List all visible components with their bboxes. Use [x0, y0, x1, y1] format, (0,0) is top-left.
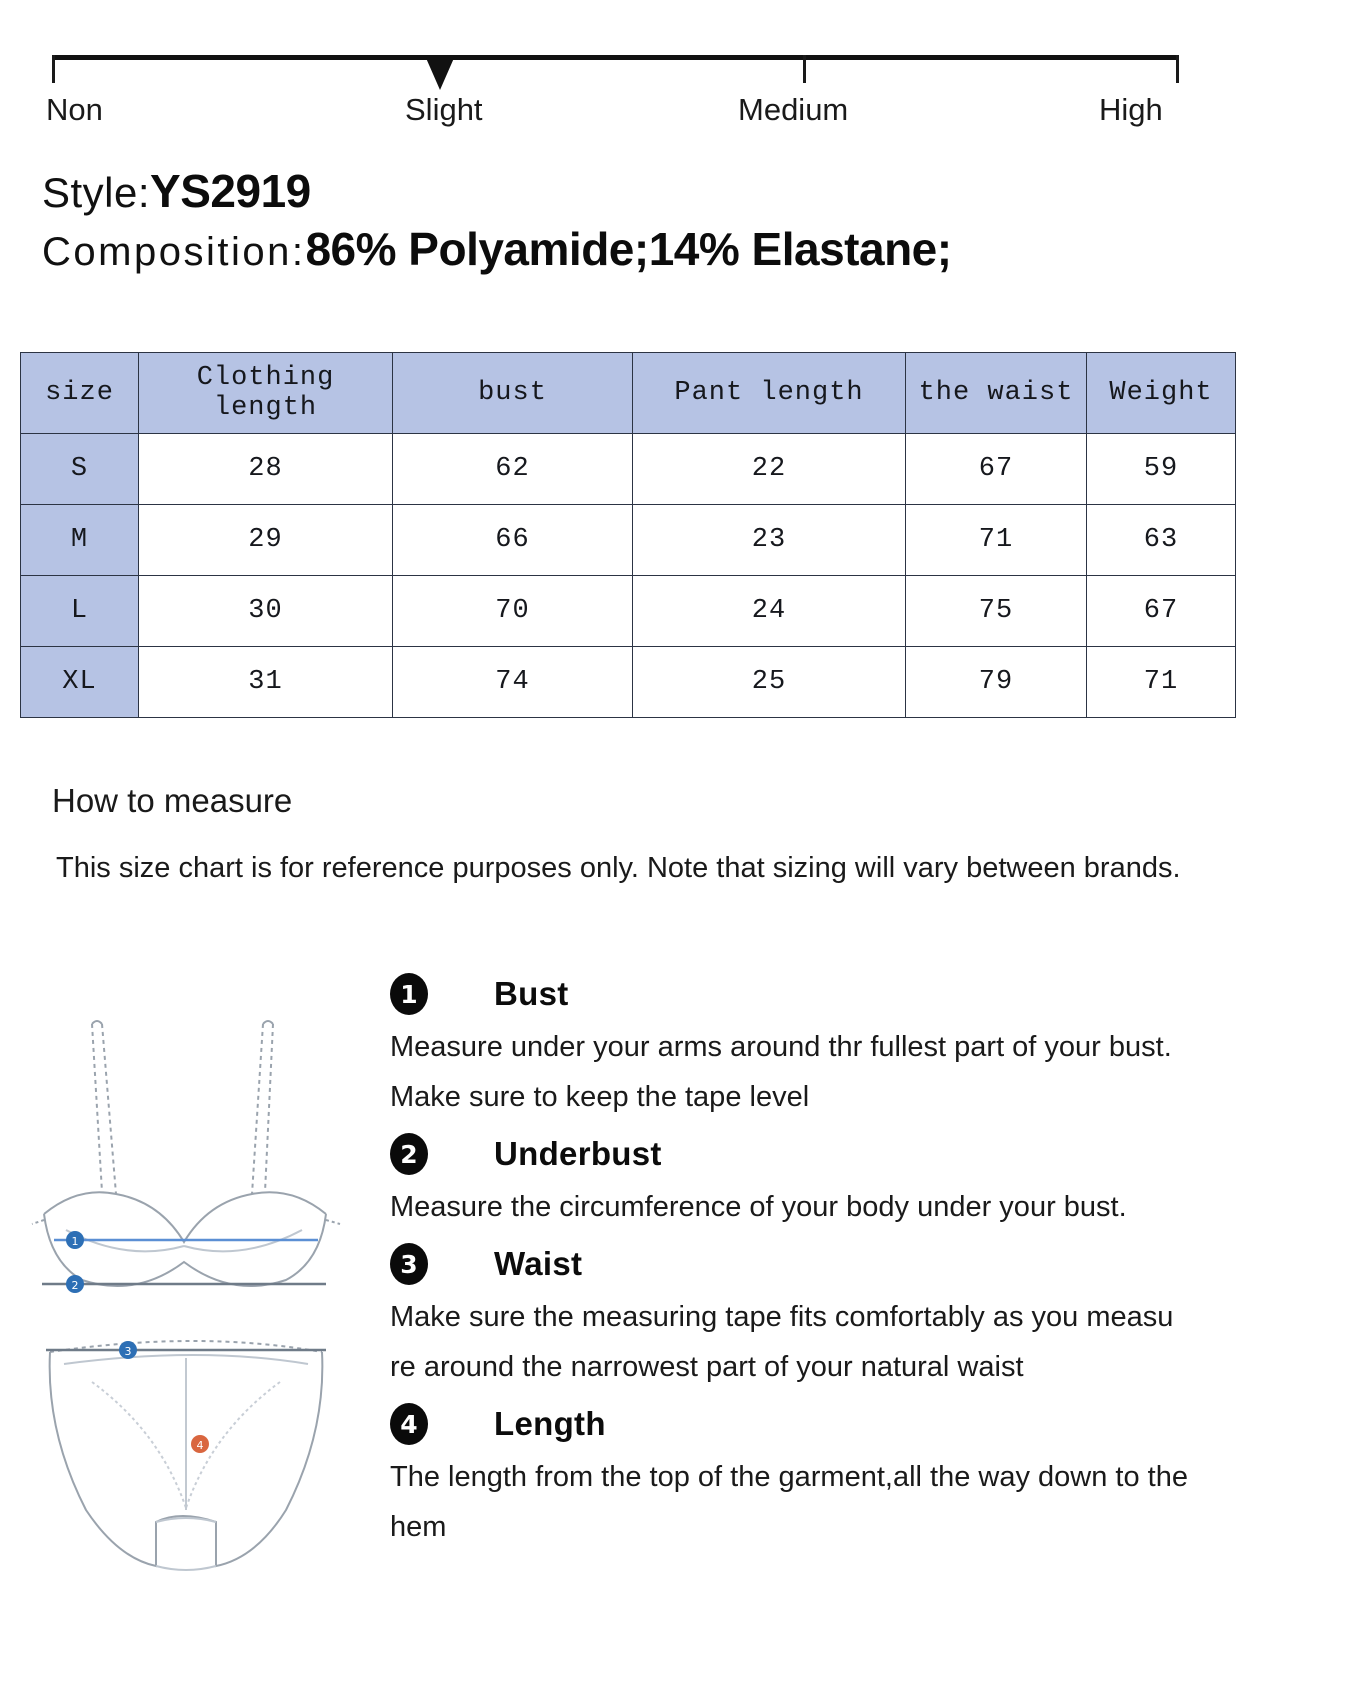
col-header-the-waist: the waist — [906, 353, 1087, 434]
step-header: 1 Bust — [390, 968, 1210, 1020]
cell-the-waist: 75 — [906, 576, 1087, 647]
step-name-underbust: Underbust — [494, 1135, 662, 1173]
cell-pant-length: 23 — [633, 505, 906, 576]
measure-step-length: 4 Length The length from the top of the … — [390, 1398, 1210, 1552]
style-label: Style: — [42, 169, 150, 217]
table-row: XL 31 74 25 79 71 — [21, 647, 1236, 718]
col-header-bust: bust — [393, 353, 633, 434]
cell-clothing-length: 28 — [139, 434, 393, 505]
how-to-measure-title: How to measure — [52, 782, 292, 820]
cell-weight: 67 — [1087, 576, 1236, 647]
step-name-waist: Waist — [494, 1245, 582, 1283]
col-header-clothing-length: Clothing length — [139, 353, 393, 434]
cell-clothing-length: 30 — [139, 576, 393, 647]
scale-label-non: Non — [46, 92, 103, 128]
measure-step-bust: 1 Bust Measure under your arms around th… — [390, 968, 1210, 1122]
scale-track — [52, 55, 1178, 60]
col-header-weight: Weight — [1087, 353, 1236, 434]
cell-the-waist: 67 — [906, 434, 1087, 505]
cell-pant-length: 22 — [633, 434, 906, 505]
table-row: S 28 62 22 67 59 — [21, 434, 1236, 505]
composition-line: Composition: 86% Polyamide;14% Elastane; — [42, 222, 1302, 276]
step-header: 3 Waist — [390, 1238, 1210, 1290]
cell-weight: 59 — [1087, 434, 1236, 505]
composition-value: 86% Polyamide;14% Elastane; — [305, 222, 951, 276]
cell-bust: 70 — [393, 576, 633, 647]
style-value: YS2919 — [150, 164, 311, 218]
table-row: M 29 66 23 71 63 — [21, 505, 1236, 576]
col-header-size: size — [21, 353, 139, 434]
padding-level-scale: Non Slight Medium High — [0, 0, 1350, 150]
cell-the-waist: 79 — [906, 647, 1087, 718]
cell-size: S — [21, 434, 139, 505]
svg-text:2: 2 — [72, 1279, 79, 1292]
step-body-waist: Make sure the measuring tape fits comfor… — [390, 1292, 1190, 1392]
step-body-length: The length from the top of the garment,a… — [390, 1452, 1190, 1552]
step-name-length: Length — [494, 1405, 606, 1443]
table-row: L 30 70 24 75 67 — [21, 576, 1236, 647]
cell-size: L — [21, 576, 139, 647]
product-meta: Style: YS2919 Composition: 86% Polyamide… — [42, 164, 1302, 276]
scale-label-slight: Slight — [405, 92, 483, 128]
size-chart-table: size Clothing length bust Pant length th… — [20, 352, 1236, 718]
step-number-badge-1: 1 — [390, 973, 428, 1015]
cell-clothing-length: 29 — [139, 505, 393, 576]
step-number-badge-4: 4 — [390, 1403, 428, 1445]
cell-bust: 62 — [393, 434, 633, 505]
cell-pant-length: 24 — [633, 576, 906, 647]
svg-text:3: 3 — [125, 1345, 132, 1358]
svg-text:1: 1 — [72, 1235, 79, 1248]
scale-marker-triangle-icon — [426, 58, 454, 90]
col-header-pant-length: Pant length — [633, 353, 906, 434]
scale-tick-non — [52, 55, 55, 83]
how-to-measure-note: This size chart is for reference purpose… — [56, 852, 1181, 885]
step-number-badge-3: 3 — [390, 1243, 428, 1285]
cell-weight: 63 — [1087, 505, 1236, 576]
cell-bust: 66 — [393, 505, 633, 576]
step-number-badge-2: 2 — [390, 1133, 428, 1175]
measure-steps-list: 1 Bust Measure under your arms around th… — [390, 962, 1210, 1552]
table-header-row: size Clothing length bust Pant length th… — [21, 353, 1236, 434]
cell-weight: 71 — [1087, 647, 1236, 718]
cell-clothing-length: 31 — [139, 647, 393, 718]
style-line: Style: YS2919 — [42, 164, 1302, 218]
step-name-bust: Bust — [494, 975, 569, 1013]
step-header: 4 Length — [390, 1398, 1210, 1450]
composition-label: Composition: — [42, 230, 305, 275]
cell-size: XL — [21, 647, 139, 718]
scale-tick-medium — [803, 55, 806, 83]
measure-step-waist: 3 Waist Make sure the measuring tape fit… — [390, 1238, 1210, 1392]
scale-label-high: High — [1099, 92, 1163, 128]
step-header: 2 Underbust — [390, 1128, 1210, 1180]
measurement-illustrations: 1 2 3 4 — [30, 962, 370, 1572]
cell-size: M — [21, 505, 139, 576]
scale-label-medium: Medium — [738, 92, 848, 128]
scale-tick-high — [1176, 55, 1179, 83]
cell-bust: 74 — [393, 647, 633, 718]
measure-step-underbust: 2 Underbust Measure the circumference of… — [390, 1128, 1210, 1232]
svg-text:4: 4 — [197, 1439, 204, 1452]
step-body-bust: Measure under your arms around thr fulle… — [390, 1022, 1190, 1122]
step-body-underbust: Measure the circumference of your body u… — [390, 1182, 1190, 1232]
cell-pant-length: 25 — [633, 647, 906, 718]
cell-the-waist: 71 — [906, 505, 1087, 576]
